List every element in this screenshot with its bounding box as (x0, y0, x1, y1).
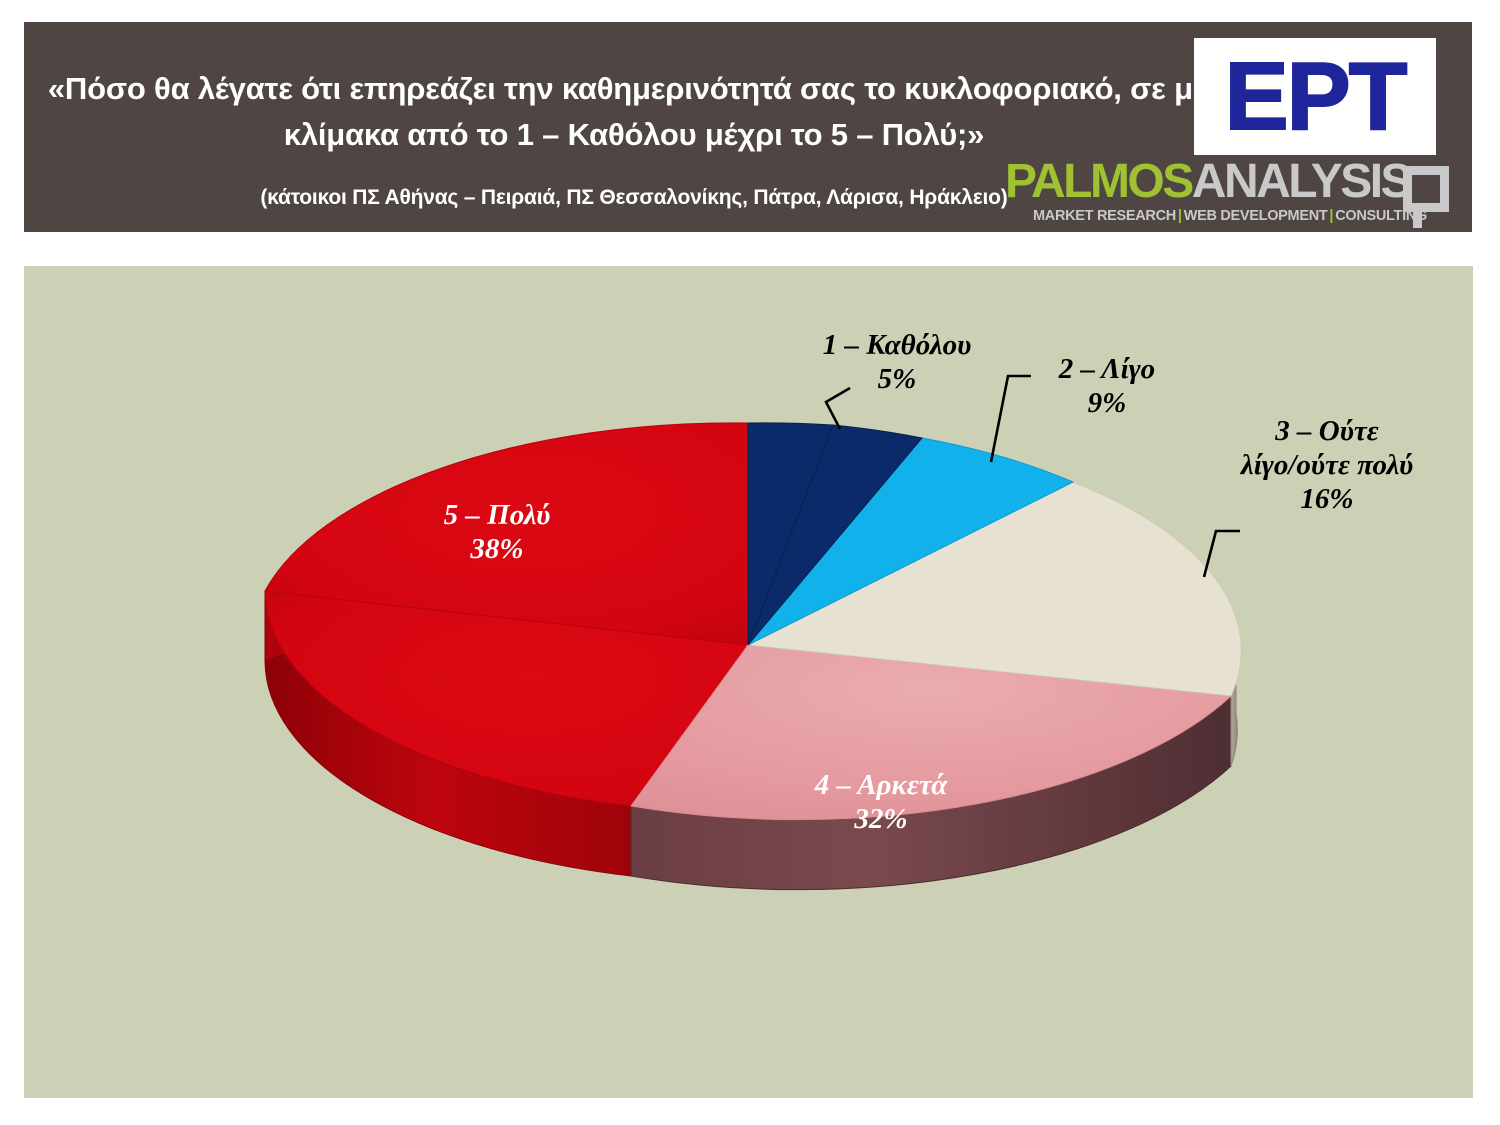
pie-label-slice-2-name: 2 – Λίγο (1012, 352, 1202, 386)
pie-label-slice-4-value: 32% (766, 802, 996, 836)
tagline-web-development: WEB DEVELOPMENT (1184, 208, 1328, 224)
pie-label-slice-3-name-line2: λίγο/ούτε πολύ (1192, 448, 1462, 482)
pie-label-slice-1-value: 5% (782, 362, 1012, 396)
pie-label-slice-5-value: 38% (382, 532, 612, 566)
pie-chart-svg (24, 266, 1473, 1098)
pie-label-slice-2: 2 – Λίγο 9% (1012, 352, 1202, 420)
tagline-market-research: MARKET RESEARCH (1033, 208, 1176, 224)
pie-label-slice-1-name: 1 – Καθόλου (782, 328, 1012, 362)
palmos-mark-square (1403, 166, 1449, 212)
palmos-wordmark: PALMOSANALYSIS (1005, 158, 1410, 206)
pie-label-slice-5-name: 5 – Πολύ (382, 498, 612, 532)
ert-logo: EPT (1194, 38, 1436, 155)
palmos-analysis-logo: PALMOSANALYSIS MARKET RESEARCH|WEB DEVEL… (1005, 158, 1460, 230)
pie-label-slice-3: 3 – Ούτε λίγο/ούτε πολύ 16% (1192, 414, 1462, 517)
ert-logo-text: EPT (1225, 49, 1406, 145)
palmos-square-mark-icon (1403, 166, 1461, 228)
pie-label-slice-3-value: 16% (1192, 482, 1462, 516)
palmos-tagline: MARKET RESEARCH|WEB DEVELOPMENT|CONSULTI… (1033, 208, 1427, 224)
pie-label-slice-1: 1 – Καθόλου 5% (782, 328, 1012, 396)
pie-label-slice-2-value: 9% (1012, 386, 1202, 420)
palmos-word: PALMOS (1005, 155, 1192, 208)
palmos-mark-stem (1413, 206, 1422, 228)
pie-label-slice-3-name-line1: 3 – Ούτε (1192, 414, 1462, 448)
pie-chart-plot-area: 1 – Καθόλου 5% 2 – Λίγο 9% 3 – Ούτε λίγο… (24, 266, 1473, 1098)
leader-line-slice-3 (1204, 531, 1240, 577)
pie-label-slice-5: 5 – Πολύ 38% (382, 498, 612, 566)
pie-label-slice-4: 4 – Αρκετά 32% (766, 768, 996, 836)
tagline-separator-1: | (1176, 208, 1184, 224)
page-title: «Πόσο θα λέγατε ότι επηρεάζει την καθημε… (44, 66, 1224, 158)
pie-label-slice-4-name: 4 – Αρκετά (766, 768, 996, 802)
analysis-word: ANALYSIS (1192, 155, 1410, 208)
